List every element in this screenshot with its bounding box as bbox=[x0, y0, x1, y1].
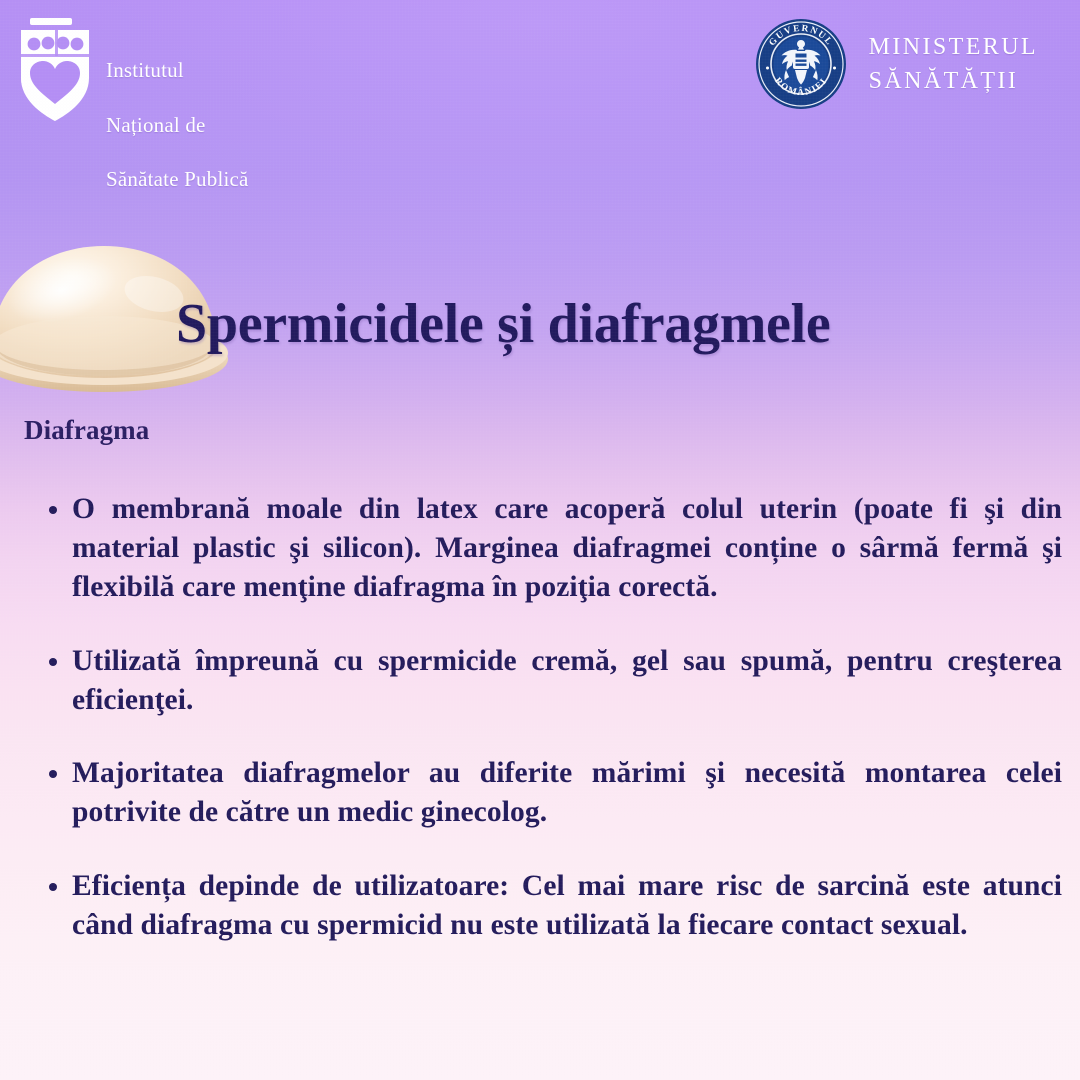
list-item-text: Utilizată împreună cu spermicide cremă, … bbox=[72, 642, 1062, 720]
list-item: Utilizată împreună cu spermicide cremă, … bbox=[40, 642, 1062, 720]
page-title: Spermicidele și diafragmele bbox=[176, 292, 1036, 356]
bullet-dot-icon bbox=[49, 658, 57, 666]
list-item-text: O membrană moale din latex care acoperă … bbox=[72, 490, 1062, 608]
bullet-list: O membrană moale din latex care acoperă … bbox=[40, 490, 1062, 945]
ministry-line-1: MINISTERUL bbox=[869, 30, 1038, 64]
list-item-text: Eficiența depinde de utilizatoare: Cel m… bbox=[72, 867, 1062, 945]
ministry-line-2: SĂNĂTĂȚII bbox=[869, 64, 1038, 98]
insp-logo: Institutul Național de Sănătate Publică bbox=[18, 16, 249, 221]
list-item: O membrană moale din latex care acoperă … bbox=[40, 490, 1062, 608]
section-subtitle: Diafragma bbox=[24, 415, 149, 446]
list-item: Eficiența depinde de utilizatoare: Cel m… bbox=[40, 867, 1062, 945]
poster-header: Institutul Național de Sănătate Publică bbox=[0, 0, 1080, 140]
ministry-logo: GUVERNUL ROMÂNIEI MINISTERUL SĂNĂTĂȚII bbox=[755, 18, 1038, 110]
insp-line-1: Institutul bbox=[106, 57, 249, 84]
list-item-text: Majoritatea diafragmelor au diferite măr… bbox=[72, 754, 1062, 832]
insp-shield-icon bbox=[18, 16, 92, 124]
ministry-name: MINISTERUL SĂNĂTĂȚII bbox=[869, 30, 1038, 98]
insp-line-3: Sănătate Publică bbox=[106, 166, 249, 193]
bullet-dot-icon bbox=[49, 883, 57, 891]
bullet-dot-icon bbox=[49, 770, 57, 778]
list-item: Majoritatea diafragmelor au diferite măr… bbox=[40, 754, 1062, 832]
insp-line-2: Național de bbox=[106, 112, 249, 139]
infographic-poster: Institutul Național de Sănătate Publică bbox=[0, 0, 1080, 1080]
guvernul-romaniei-seal-icon: GUVERNUL ROMÂNIEI bbox=[755, 18, 847, 110]
insp-organization-name: Institutul Național de Sănătate Publică bbox=[106, 30, 249, 221]
bullet-dot-icon bbox=[49, 506, 57, 514]
